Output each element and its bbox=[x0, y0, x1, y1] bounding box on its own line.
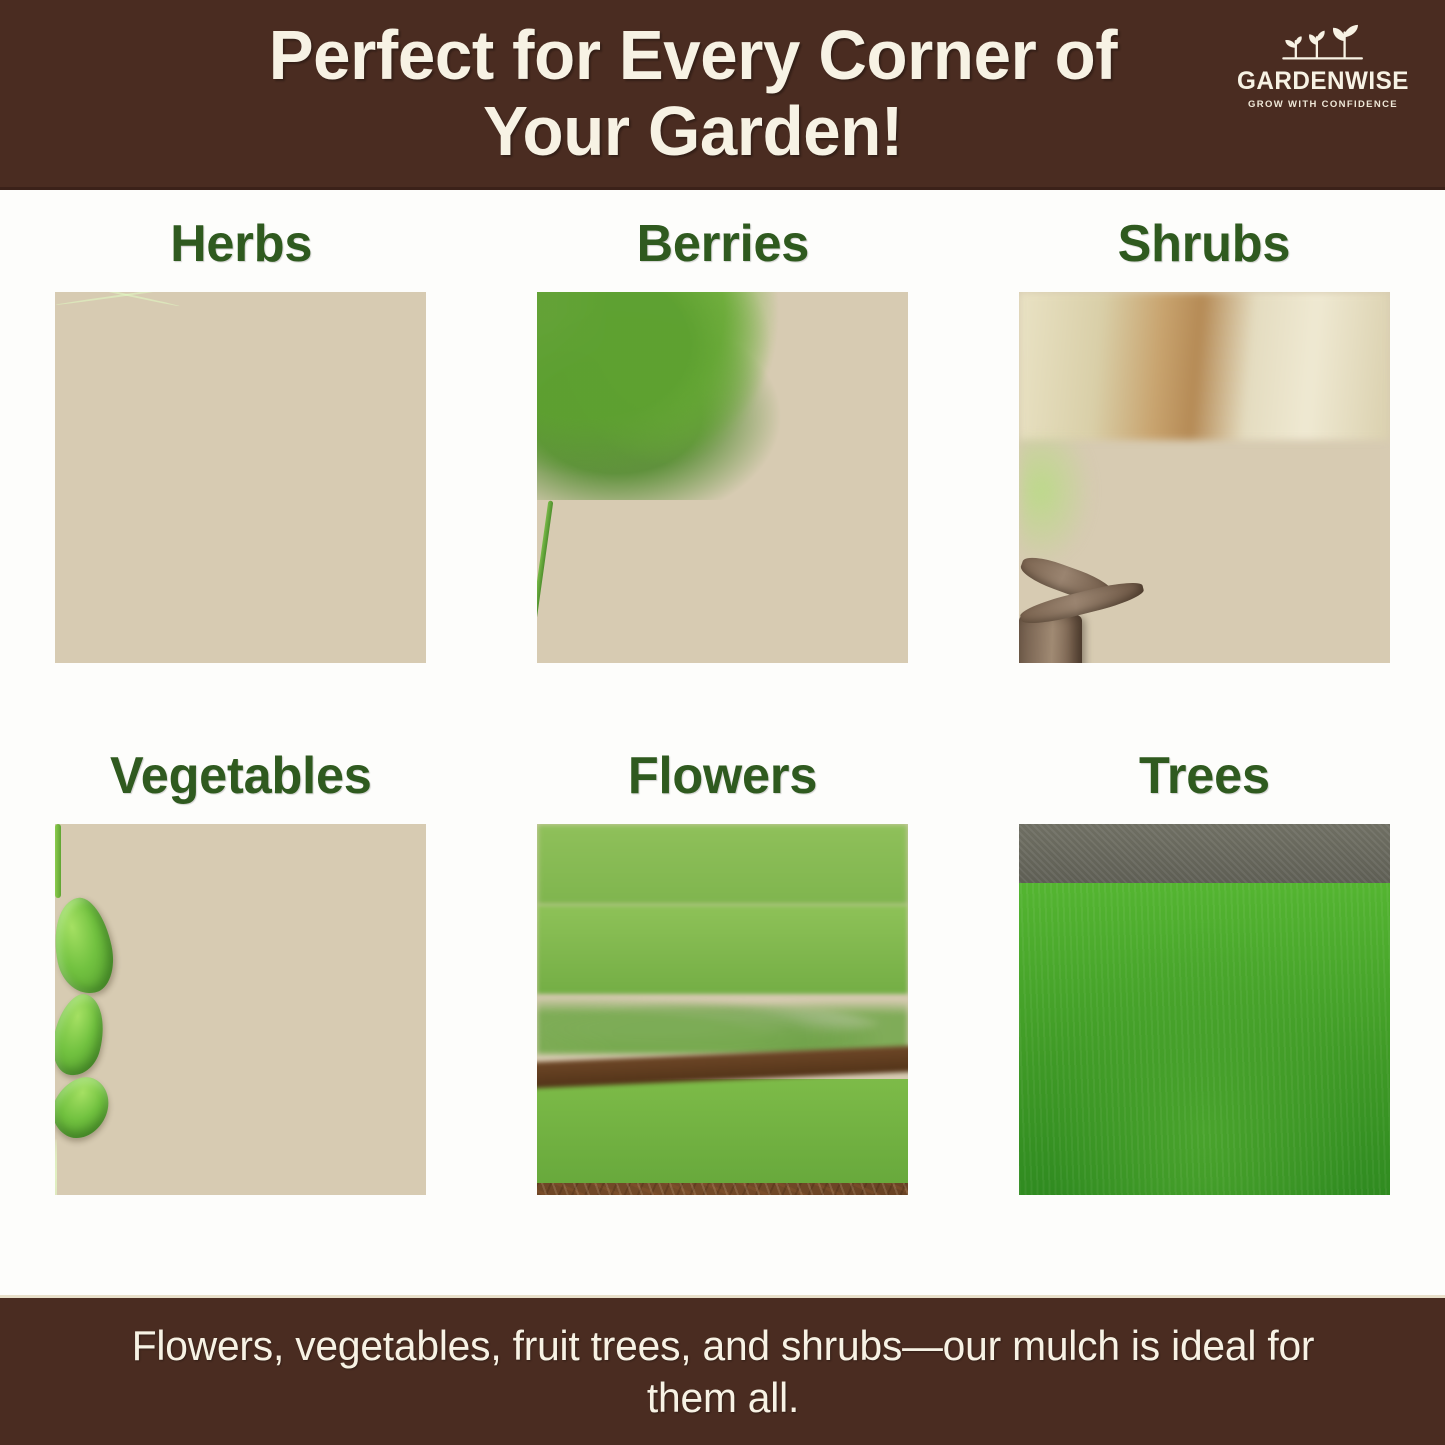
category-grid-section: Herbs bbox=[0, 190, 1445, 1295]
brand-logo: GARDENWISE GROW WITH CONFIDENCE bbox=[1223, 22, 1423, 110]
footer-tagline: Flowers, vegetables, fruit trees, and sh… bbox=[111, 1320, 1333, 1422]
header-banner: Perfect for Every Corner of Your Garden!… bbox=[0, 0, 1445, 190]
category-label: Vegetables bbox=[110, 750, 372, 802]
footer-banner: Flowers, vegetables, fruit trees, and sh… bbox=[0, 1295, 1445, 1445]
category-cell-herbs: Herbs bbox=[0, 218, 482, 750]
category-cell-shrubs: Shrubs bbox=[963, 218, 1445, 750]
rose-bushes-in-mulch-bed-photo bbox=[537, 824, 908, 1195]
leafy-green-plant-in-pine-straw-mulch-photo bbox=[55, 292, 426, 663]
logo-wordmark: GARDENWISE bbox=[1226, 69, 1420, 94]
sprout-seedlings-icon bbox=[1270, 22, 1375, 66]
category-cell-trees: Trees bbox=[963, 750, 1445, 1282]
seedling-in-straw-mulch-photo bbox=[55, 824, 426, 1195]
category-label: Trees bbox=[1139, 750, 1270, 802]
category-cell-vegetables: Vegetables bbox=[0, 750, 482, 1282]
gloved-hands-mulching-shrub-photo bbox=[1019, 292, 1390, 663]
category-label: Berries bbox=[636, 218, 809, 270]
category-label: Shrubs bbox=[1118, 218, 1291, 270]
category-cell-flowers: Flowers bbox=[482, 750, 964, 1282]
whitewashed-tree-trunk-mulch-ring-photo bbox=[1019, 824, 1390, 1195]
category-label: Herbs bbox=[170, 218, 312, 270]
page-title: Perfect for Every Corner of Your Garden! bbox=[208, 18, 1178, 169]
poster: Perfect for Every Corner of Your Garden!… bbox=[0, 0, 1445, 1445]
category-cell-berries: Berries bbox=[482, 218, 964, 750]
category-label: Flowers bbox=[628, 750, 817, 802]
logo-tagline: GROW WITH CONFIDENCE bbox=[1223, 100, 1423, 110]
category-grid: Herbs bbox=[0, 190, 1445, 1295]
strawberry-plant-on-straw-mulch-photo bbox=[537, 292, 908, 663]
